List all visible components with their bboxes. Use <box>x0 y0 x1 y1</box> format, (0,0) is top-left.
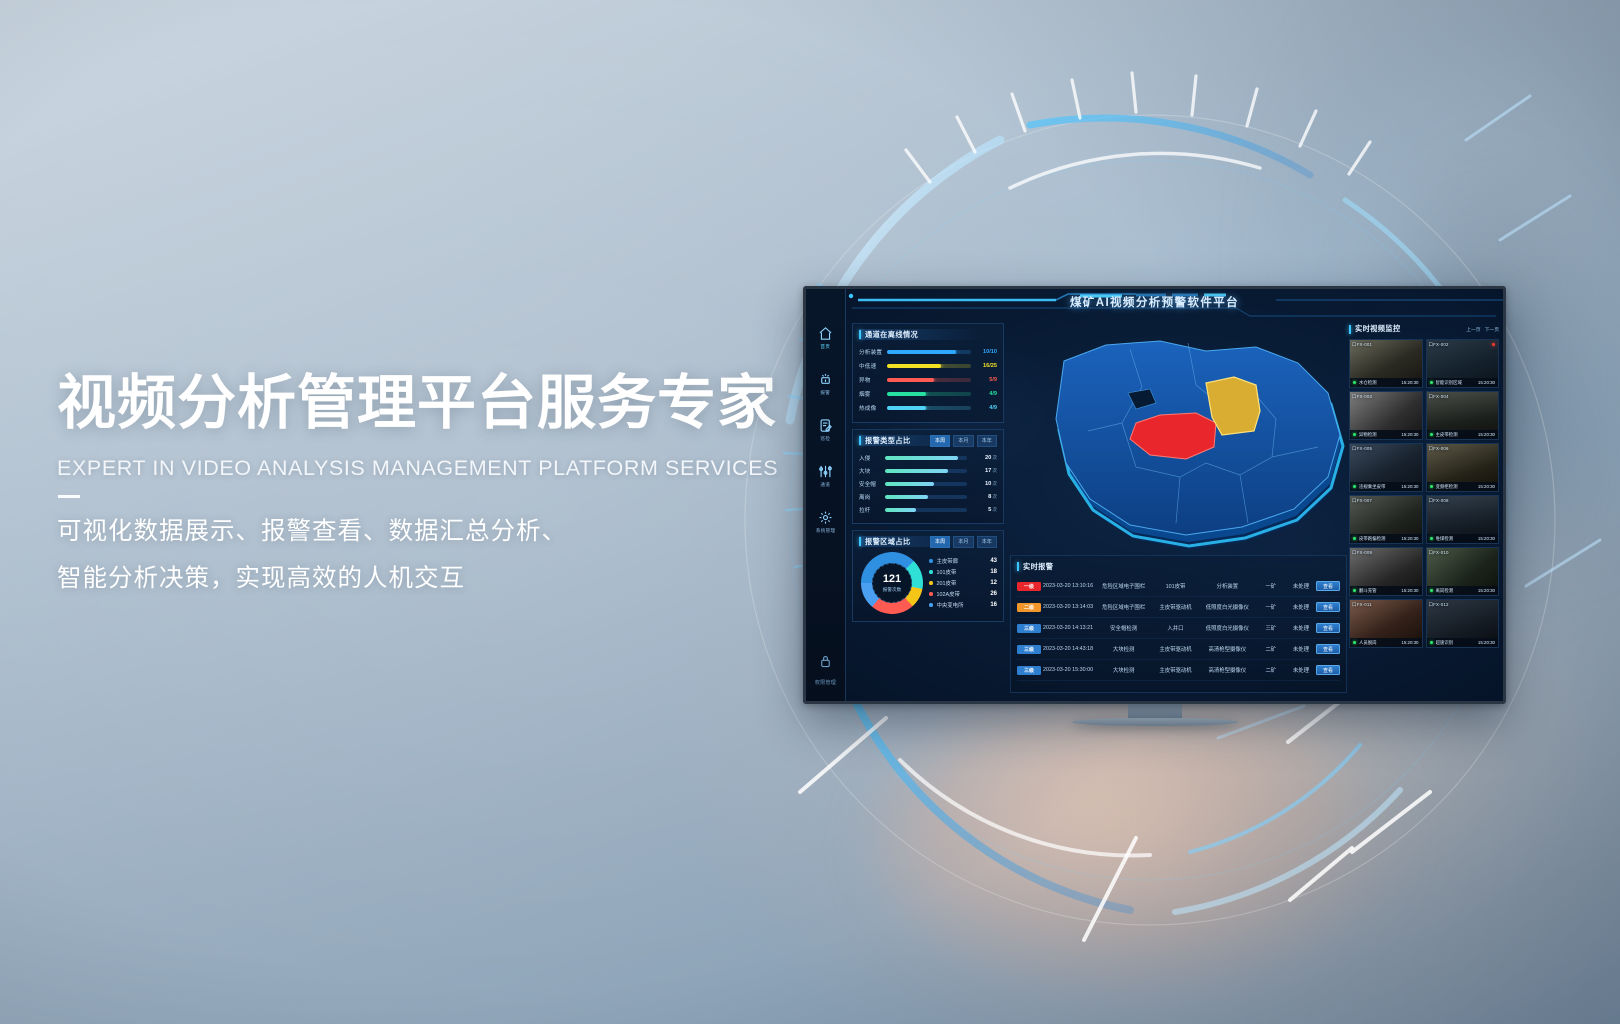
alarm-type: 危险区域电子围栏 <box>1095 582 1152 590</box>
sidebar-item-system[interactable]: 系统管理 <box>806 499 845 545</box>
alarm-view-button[interactable]: 查看 <box>1316 623 1340 633</box>
alarm-device: 高清枪型摄像仪 <box>1199 666 1256 674</box>
video-timestamp: 15:20:30 <box>1401 536 1418 541</box>
video-channel-id: 口FX-006 <box>1429 446 1449 452</box>
hero-description-line-1: 可视化数据展示、报警查看、数据汇总分析、 <box>57 508 817 556</box>
video-timestamp: 15:20:30 <box>1478 536 1495 541</box>
donut-total-caption: 报警次数 <box>883 587 901 593</box>
video-caption-bar: 皮带跑偏检测15:20:30 <box>1350 534 1422 543</box>
alarm-type-fill <box>885 495 928 499</box>
alarm-type-row: 入侵20次 <box>859 451 997 464</box>
alarm-area-tab-本年[interactable]: 本年 <box>977 536 997 548</box>
video-channel-id: 口FX-005 <box>1352 446 1372 452</box>
realtime-video-panel: 实时视频监控 上一页 下一页 口FX-001水仓检测15:20:30口FX-00… <box>1349 323 1499 693</box>
header-accent-bar <box>859 436 861 445</box>
channel-row-track <box>887 350 971 354</box>
video-channel-id: 口FX-007 <box>1352 498 1372 504</box>
legend-color-dot <box>929 592 933 596</box>
legend-label: 主皮带廊 <box>937 557 991 565</box>
alarm-type-fill <box>885 482 934 486</box>
alarm-type-row: 离岗8次 <box>859 490 997 503</box>
legend-color-dot <box>929 581 933 585</box>
video-timestamp: 15:20:30 <box>1478 432 1495 437</box>
video-name: 异物检测 <box>1359 432 1401 438</box>
video-timestamp: 15:20:30 <box>1401 588 1418 593</box>
video-channel-id: 口FX-008 <box>1429 498 1449 504</box>
video-caption-bar: 翻斗充管15:20:30 <box>1350 586 1422 595</box>
legend-value: 12 <box>990 580 997 586</box>
video-channel-id: 口FX-009 <box>1352 550 1372 556</box>
hero-divider <box>58 495 80 498</box>
alarm-type-value: 10 <box>967 481 991 487</box>
video-grid: 口FX-001水仓检测15:20:30口FX-002智能识别区域15:20:30… <box>1349 339 1499 648</box>
donut-legend-item: 主皮带廊43 <box>929 556 997 567</box>
video-name: 智能识别区域 <box>1436 380 1478 386</box>
online-status-icon <box>1430 485 1433 488</box>
dashboard-header: 煤矿AI视频分析预警软件平台 <box>806 289 1503 319</box>
channel-status-header: 通道在离线情况 <box>859 329 997 340</box>
online-status-icon <box>1430 433 1433 436</box>
alarm-status: 未处理 <box>1286 582 1316 590</box>
alarm-type-header: 报警类型占比 本周本月本年 <box>859 435 997 446</box>
alarm-type-title: 报警类型占比 <box>865 436 911 446</box>
channel-row-label: 中低速 <box>859 362 887 370</box>
alarm-type: 大块检测 <box>1095 666 1152 674</box>
sidebar-item-system-label: 系统管理 <box>816 527 836 533</box>
alarm-type-label: 大块 <box>859 467 885 475</box>
alarm-view-button[interactable]: 查看 <box>1316 665 1340 675</box>
channel-row-fill <box>887 392 926 396</box>
alarm-type: 安全帽检测 <box>1095 624 1152 632</box>
alarm-type-row: 安全帽10次 <box>859 477 997 490</box>
video-prev-page[interactable]: 上一页 <box>1466 326 1480 333</box>
header-accent-bar <box>1017 562 1019 571</box>
header-accent-bar <box>859 537 861 546</box>
region-map[interactable] <box>1010 327 1362 551</box>
alarm-view-button[interactable]: 查看 <box>1316 581 1340 591</box>
video-channel-id: 口FX-004 <box>1429 394 1449 400</box>
online-status-icon <box>1353 433 1356 436</box>
donut-center: 121 报警次数 <box>872 563 912 603</box>
legend-value: 16 <box>990 602 997 608</box>
channel-icon <box>818 464 833 479</box>
online-status-icon <box>1353 641 1356 644</box>
alarm-type-label: 安全帽 <box>859 480 885 488</box>
alarm-area-header: 报警区域占比 本周本月本年 <box>859 536 997 547</box>
video-name: 主皮带检测 <box>1436 432 1478 438</box>
alarm-type-label: 入侵 <box>859 454 885 462</box>
video-cell[interactable]: 口FX-007皮带跑偏检测15:20:30 <box>1349 495 1423 544</box>
realtime-alarm-header: 实时报警 <box>1017 561 1340 572</box>
online-status-icon <box>1430 537 1433 540</box>
channel-row-fill <box>887 350 956 354</box>
channel-row-value: 16/25 <box>971 363 997 369</box>
video-name: 皮带跑偏检测 <box>1359 536 1401 542</box>
video-caption-bar: 离岗检测15:20:30 <box>1427 586 1499 595</box>
video-caption-bar: 主皮带检测15:20:30 <box>1427 430 1499 439</box>
dashboard-title: 煤矿AI视频分析预警软件平台 <box>806 294 1503 310</box>
video-cell[interactable]: 口FX-009翻斗充管15:20:30 <box>1349 547 1423 596</box>
video-caption-bar: 异物检测15:20:30 <box>1350 430 1422 439</box>
alarm-level-badge: 三级 <box>1017 645 1041 654</box>
alarm-time: 2023-03-20 15:30:00 <box>1041 667 1095 673</box>
channel-row-label: 异物 <box>859 376 887 384</box>
online-status-icon <box>1430 641 1433 644</box>
legend-value: 26 <box>990 591 997 597</box>
alarm-type-panel: 报警类型占比 本周本月本年 入侵20次大块17次安全帽10次离岗8次拉杆5次 <box>852 429 1004 524</box>
table-row: 三级2023-03-20 14:13:21安全帽检测入井口低照度白光摄像仪三矿未… <box>1017 618 1340 639</box>
dashboard-screen: 煤矿AI视频分析预警软件平台 首页 报警 巡检 通道 <box>806 289 1503 701</box>
hero-copy: 视频分析管理平台服务专家 EXPERT IN VIDEO ANALYSIS MA… <box>57 372 817 603</box>
video-next-page[interactable]: 下一页 <box>1485 326 1499 333</box>
alarm-location: 主皮带驱动机 <box>1152 645 1199 653</box>
channel-row-value: 5/9 <box>971 377 997 383</box>
legend-color-dot <box>929 570 933 574</box>
alarm-type-track <box>885 469 967 473</box>
video-timestamp: 15:20:30 <box>1401 484 1418 489</box>
video-timestamp: 15:20:30 <box>1478 588 1495 593</box>
video-cell[interactable]: 口FX-006变频柜检测15:20:30 <box>1426 443 1500 492</box>
permission-icon <box>818 654 833 669</box>
alarm-device: 分析装置 <box>1199 582 1256 590</box>
alarm-type-row: 大块17次 <box>859 464 997 477</box>
alarm-time: 2023-03-20 13:10:16 <box>1041 583 1095 589</box>
alarm-type-tab-本年[interactable]: 本年 <box>977 435 997 447</box>
legend-label: 101皮带 <box>937 568 991 576</box>
dashboard-sidebar[interactable]: 首页 报警 巡检 通道 系统管理 <box>806 289 846 701</box>
channel-row-value: 10/10 <box>971 349 997 355</box>
alarm-time: 2023-03-20 14:13:21 <box>1041 625 1095 631</box>
donut-legend-item: 中央变电所16 <box>929 600 997 611</box>
alarm-type-track <box>885 456 967 460</box>
alarm-type-tab-本月[interactable]: 本月 <box>953 435 973 447</box>
online-status-icon <box>1353 381 1356 384</box>
online-status-icon <box>1353 485 1356 488</box>
video-caption-bar: 堆煤检测15:20:30 <box>1427 534 1499 543</box>
gear-icon <box>818 510 833 525</box>
alarm-type-unit: 次 <box>992 507 997 513</box>
video-timestamp: 15:20:30 <box>1401 640 1418 645</box>
home-icon <box>818 326 833 341</box>
alarm-type: 危险区域电子围栏 <box>1095 603 1152 611</box>
alarm-time: 2023-03-20 13:14:03 <box>1041 604 1095 610</box>
online-status-icon <box>1353 589 1356 592</box>
video-name: 堆煤检测 <box>1436 536 1478 542</box>
sidebar-item-channel-label: 通道 <box>821 481 831 487</box>
video-name: 违规乘坐皮带 <box>1359 484 1401 490</box>
alarm-type-track <box>885 508 967 512</box>
sidebar-item-channel[interactable]: 通道 <box>806 453 845 499</box>
video-cell[interactable]: 口FX-002智能识别区域15:20:30 <box>1426 339 1500 388</box>
channel-row-fill <box>887 406 926 410</box>
video-pager[interactable]: 上一页 下一页 <box>1466 326 1499 333</box>
video-cell[interactable]: 口FX-008堆煤检测15:20:30 <box>1426 495 1500 544</box>
alarm-type-row: 拉杆5次 <box>859 503 997 516</box>
alarm-type-fill <box>885 456 958 460</box>
legend-label: 201皮带 <box>937 579 991 587</box>
alarm-location: 101皮带 <box>1152 582 1199 590</box>
channel-status-row: 分析装置10/10 <box>859 345 997 359</box>
video-cell[interactable]: 口FX-011人员脱岗15:20:30 <box>1349 599 1423 648</box>
legend-label: 中央变电所 <box>937 601 991 609</box>
sidebar-item-home[interactable]: 首页 <box>806 315 845 361</box>
realtime-video-title: 实时视频监控 <box>1355 324 1401 334</box>
alarm-mine: 二矿 <box>1256 666 1286 674</box>
alarm-device: 高清枪型摄像仪 <box>1199 645 1256 653</box>
video-name: 离岗检测 <box>1436 588 1478 594</box>
video-cell[interactable]: 口FX-001水仓检测15:20:30 <box>1349 339 1423 388</box>
channel-status-row: 烟雾4/9 <box>859 387 997 401</box>
alarm-level-badge: 二级 <box>1017 603 1041 612</box>
alarm-type-fill <box>885 508 916 512</box>
video-channel-id: 口FX-012 <box>1429 602 1449 608</box>
alarm-area-panel: 报警区域占比 本周本月本年 121 报警次数 主皮带廊43101皮带18201皮… <box>852 530 1004 622</box>
channel-status-panel: 通道在离线情况 分析装置10/10中低速16/25异物5/9烟雾4/9热成像4/… <box>852 323 1004 423</box>
video-name: 变频柜检测 <box>1436 484 1478 490</box>
table-row: 三级2023-03-20 15:30:00大块检测主皮带驱动机高清枪型摄像仪二矿… <box>1017 660 1340 681</box>
alarm-status: 未处理 <box>1286 603 1316 611</box>
map-3d-graphic[interactable] <box>1010 327 1362 551</box>
alarm-location: 入井口 <box>1152 624 1199 632</box>
video-name: 水仓检测 <box>1359 380 1401 386</box>
alarm-status: 未处理 <box>1286 666 1316 674</box>
alarm-icon <box>818 372 833 387</box>
realtime-alarm-title: 实时报警 <box>1023 562 1053 572</box>
alarm-type-fill <box>885 469 948 473</box>
channel-row-track <box>887 392 971 396</box>
hero-subtitle: EXPERT IN VIDEO ANALYSIS MANAGEMENT PLAT… <box>57 456 817 481</box>
video-cell[interactable]: 口FX-010离岗检测15:20:30 <box>1426 547 1500 596</box>
video-timestamp: 15:20:30 <box>1478 484 1495 489</box>
video-name: 超速识别 <box>1436 640 1478 646</box>
alarm-device: 低照度白光摄像仪 <box>1199 624 1256 632</box>
alarm-type-value: 5 <box>967 507 991 513</box>
video-caption-bar: 人员脱岗15:20:30 <box>1350 638 1422 647</box>
alarm-area-range-tabs[interactable]: 本周本月本年 <box>930 536 997 548</box>
channel-row-value: 4/9 <box>971 405 997 411</box>
video-channel-id: 口FX-010 <box>1429 550 1449 556</box>
online-status-icon <box>1430 589 1433 592</box>
alarm-type-label: 离岗 <box>859 493 885 501</box>
alarm-type-label: 拉杆 <box>859 506 885 514</box>
realtime-video-header: 实时视频监控 上一页 下一页 <box>1349 323 1499 335</box>
online-status-icon <box>1353 537 1356 540</box>
legend-color-dot <box>929 603 933 607</box>
alarm-type-range-tabs[interactable]: 本周本月本年 <box>930 435 997 447</box>
alarm-location: 主皮带驱动机 <box>1152 666 1199 674</box>
video-caption-bar: 超速识别15:20:30 <box>1427 638 1499 647</box>
alarm-device: 低照度白光摄像仪 <box>1199 603 1256 611</box>
alarm-type-unit: 次 <box>992 455 997 461</box>
alarm-type-track <box>885 482 967 486</box>
realtime-alarm-rows: 一级2023-03-20 13:10:16危险区域电子围栏101皮带分析装置一矿… <box>1017 576 1340 681</box>
online-status-icon <box>1430 381 1433 384</box>
video-timestamp: 15:20:30 <box>1478 380 1495 385</box>
video-caption-bar: 变频柜检测15:20:30 <box>1427 482 1499 491</box>
alarm-status: 未处理 <box>1286 645 1316 653</box>
channel-row-track <box>887 364 971 368</box>
alarm-type-value: 20 <box>967 455 991 461</box>
channel-status-title: 通道在离线情况 <box>865 330 918 340</box>
alarm-level-badge: 三级 <box>1017 624 1041 633</box>
alarm-type-tab-本周[interactable]: 本周 <box>930 435 950 447</box>
sidebar-item-alarm-label: 报警 <box>821 389 831 395</box>
video-cell[interactable]: 口FX-005违规乘坐皮带15:20:30 <box>1349 443 1423 492</box>
monitor-bezel: 煤矿AI视频分析预警软件平台 首页 报警 巡检 通道 <box>803 286 1506 704</box>
video-channel-id: 口FX-002 <box>1429 342 1449 348</box>
alarm-area-tab-本周[interactable]: 本周 <box>930 536 950 548</box>
channel-status-row: 中低速16/25 <box>859 359 997 373</box>
donut-chart: 121 报警次数 <box>861 552 923 614</box>
legend-color-dot <box>929 559 933 563</box>
legend-value: 43 <box>990 558 997 564</box>
channel-row-track <box>887 406 971 410</box>
header-accent-bar <box>1349 325 1351 334</box>
alarm-mine: 一矿 <box>1256 603 1286 611</box>
video-caption-bar: 智能识别区域15:20:30 <box>1427 378 1499 387</box>
video-channel-id: 口FX-003 <box>1352 394 1372 400</box>
video-name: 人员脱岗 <box>1359 640 1401 646</box>
alarm-type-rows: 入侵20次大块17次安全帽10次离岗8次拉杆5次 <box>859 451 997 516</box>
header-accent-bar <box>859 330 861 339</box>
sidebar-item-home-label: 首页 <box>821 343 831 349</box>
alarm-area-chart: 121 报警次数 主皮带廊43101皮带18201皮带12102A皮带26中央变… <box>859 552 997 614</box>
alarm-view-button[interactable]: 查看 <box>1316 644 1340 654</box>
recording-indicator-icon <box>1492 343 1495 346</box>
alarm-time: 2023-03-20 14:43:18 <box>1041 646 1095 652</box>
table-row: 三级2023-03-20 14:43:18大块检测主皮带驱动机高清枪型摄像仪二矿… <box>1017 639 1340 660</box>
monitor-stand-base <box>1072 718 1238 726</box>
channel-status-rows: 分析装置10/10中低速16/25异物5/9烟雾4/9热成像4/9 <box>859 345 997 415</box>
alarm-area-title: 报警区域占比 <box>865 537 911 547</box>
legend-label: 102A皮带 <box>937 590 991 598</box>
donut-total-value: 121 <box>883 574 901 585</box>
video-caption-bar: 水仓检测15:20:30 <box>1350 378 1422 387</box>
video-cell[interactable]: 口FX-012超速识别15:20:30 <box>1426 599 1500 648</box>
alarm-type-value: 8 <box>967 494 991 500</box>
sidebar-item-inspection-label: 巡检 <box>821 435 831 441</box>
alarm-mine: 一矿 <box>1256 582 1286 590</box>
alarm-mine: 三矿 <box>1256 624 1286 632</box>
video-timestamp: 15:20:30 <box>1478 640 1495 645</box>
legend-value: 18 <box>990 569 997 575</box>
channel-row-label: 烟雾 <box>859 390 887 398</box>
channel-row-fill <box>887 364 941 368</box>
alarm-location: 主皮带驱动机 <box>1152 603 1199 611</box>
donut-legend-item: 201皮带12 <box>929 578 997 589</box>
channel-row-fill <box>887 378 934 382</box>
inspection-icon <box>818 418 833 433</box>
donut-legend-item: 101皮带18 <box>929 567 997 578</box>
alarm-level-badge: 三级 <box>1017 666 1041 675</box>
alarm-type: 大块检测 <box>1095 645 1152 653</box>
video-channel-id: 口FX-011 <box>1352 602 1372 608</box>
alarm-status: 未处理 <box>1286 624 1316 632</box>
alarm-type-unit: 次 <box>992 481 997 487</box>
alarm-type-unit: 次 <box>992 494 997 500</box>
sidebar-footer-label: 权限管理 <box>815 680 836 686</box>
alarm-level-badge: 一级 <box>1017 582 1041 591</box>
sidebar-footer[interactable]: 权限管理 <box>806 654 845 689</box>
alarm-mine: 二矿 <box>1256 645 1286 653</box>
alarm-type-unit: 次 <box>992 468 997 474</box>
hero-description-line-2: 智能分析决策，实现高效的人机交互 <box>57 555 817 603</box>
table-row: 二级2023-03-20 13:14:03危险区域电子围栏主皮带驱动机低照度白光… <box>1017 597 1340 618</box>
realtime-alarm-panel: 实时报警 一级2023-03-20 13:10:16危险区域电子围栏101皮带分… <box>1010 555 1347 693</box>
alarm-type-value: 17 <box>967 468 991 474</box>
donut-legend: 主皮带廊43101皮带18201皮带12102A皮带26中央变电所16 <box>923 556 997 611</box>
video-timestamp: 15:20:30 <box>1401 380 1418 385</box>
video-cell[interactable]: 口FX-004主皮带检测15:20:30 <box>1426 391 1500 440</box>
left-panel-column: 通道在离线情况 分析装置10/10中低速16/25异物5/9烟雾4/9热成像4/… <box>852 323 1004 693</box>
alarm-view-button[interactable]: 查看 <box>1316 602 1340 612</box>
channel-row-value: 4/9 <box>971 391 997 397</box>
channel-status-row: 异物5/9 <box>859 373 997 387</box>
alarm-type-track <box>885 495 967 499</box>
video-caption-bar: 违规乘坐皮带15:20:30 <box>1350 482 1422 491</box>
page-title: 视频分析管理平台服务专家 <box>57 372 817 436</box>
channel-status-row: 热成像4/9 <box>859 401 997 415</box>
sidebar-item-inspection[interactable]: 巡检 <box>806 407 845 453</box>
video-name: 翻斗充管 <box>1359 588 1401 594</box>
video-channel-id: 口FX-001 <box>1352 342 1372 348</box>
donut-legend-item: 102A皮带26 <box>929 589 997 600</box>
video-cell[interactable]: 口FX-003异物检测15:20:30 <box>1349 391 1423 440</box>
channel-row-track <box>887 378 971 382</box>
table-row: 一级2023-03-20 13:10:16危险区域电子围栏101皮带分析装置一矿… <box>1017 576 1340 597</box>
channel-row-label: 热成像 <box>859 404 887 412</box>
channel-row-label: 分析装置 <box>859 348 887 356</box>
sidebar-item-alarm[interactable]: 报警 <box>806 361 845 407</box>
alarm-area-tab-本月[interactable]: 本月 <box>953 536 973 548</box>
video-timestamp: 15:20:30 <box>1401 432 1418 437</box>
